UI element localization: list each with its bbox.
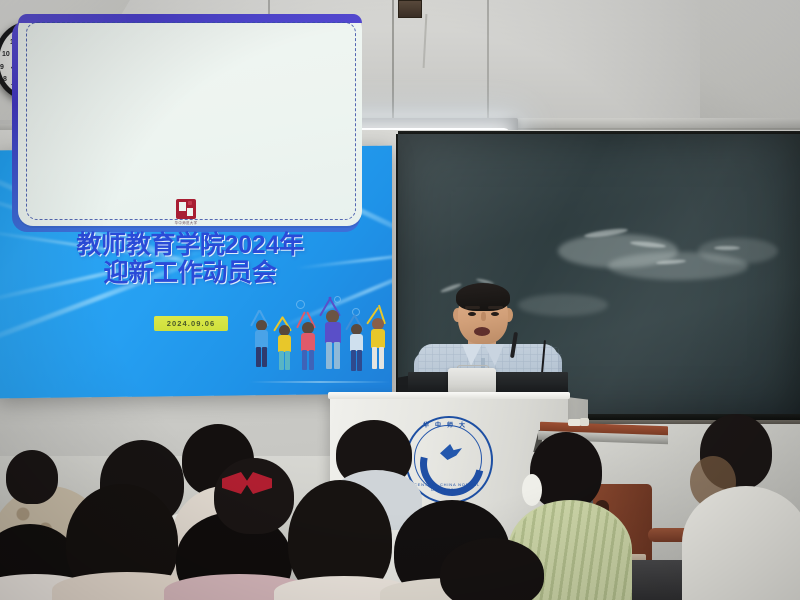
- ceiling-junction-box: [398, 0, 422, 18]
- audience-member-head: [440, 538, 544, 600]
- audience-member-head: [214, 458, 294, 534]
- ceiling-seam: [392, 0, 394, 122]
- logo-accent-dot: [188, 201, 192, 205]
- ceiling-panel-right: [700, 0, 800, 124]
- slide-ground-line: [250, 381, 390, 383]
- crest-bottom-text: CENTRAL CHINA NORMAL UNIVERSITY: [409, 482, 485, 492]
- slide-bubble: [334, 296, 341, 303]
- slide-date-text: 2024.09.06: [167, 319, 216, 328]
- speaker-eyebrow-left: [465, 306, 480, 309]
- speaker-mouth: [474, 327, 490, 336]
- speaker-eyebrow-right: [488, 306, 503, 309]
- podium-top-edge: [328, 392, 570, 399]
- ceiling-seam: [487, 0, 489, 124]
- university-logo-icon: [176, 199, 196, 219]
- audience-member-shoulders: [682, 486, 800, 600]
- chalk-piece: [580, 418, 589, 426]
- logo-notch-lower: [187, 208, 193, 216]
- audience-member-head: [6, 450, 58, 504]
- clock-tick-8: 8: [3, 76, 7, 83]
- speaker-eye-left: [468, 312, 476, 316]
- crest-top-text: 华中师大: [409, 420, 485, 429]
- classroom-photo: 12 1 2 3 4 5 6 7 8 9 10 11: [0, 0, 800, 600]
- slide-dashed-border: [26, 22, 356, 220]
- speaker-eye-right: [491, 312, 499, 316]
- projector-control-box[interactable]: [448, 368, 496, 394]
- slide-title: 教师教育学院2024年 迎新工作动员会: [28, 231, 352, 287]
- clock-tick-9: 9: [0, 64, 4, 71]
- clock-tick-10: 10: [2, 51, 10, 58]
- slide-title-line-2: 迎新工作动员会: [28, 259, 352, 287]
- audience-member-head: [530, 432, 602, 510]
- slide-date-badge: 2024.09.06: [154, 316, 228, 331]
- slide-bubble: [296, 300, 305, 309]
- speaker-nose: [481, 312, 486, 321]
- logo-caption: 华中师范大学: [166, 220, 206, 225]
- white-hair-clip: [522, 474, 542, 506]
- logo-notch-upper: [179, 202, 186, 211]
- slide-title-line-1: 教师教育学院2024年: [28, 231, 352, 259]
